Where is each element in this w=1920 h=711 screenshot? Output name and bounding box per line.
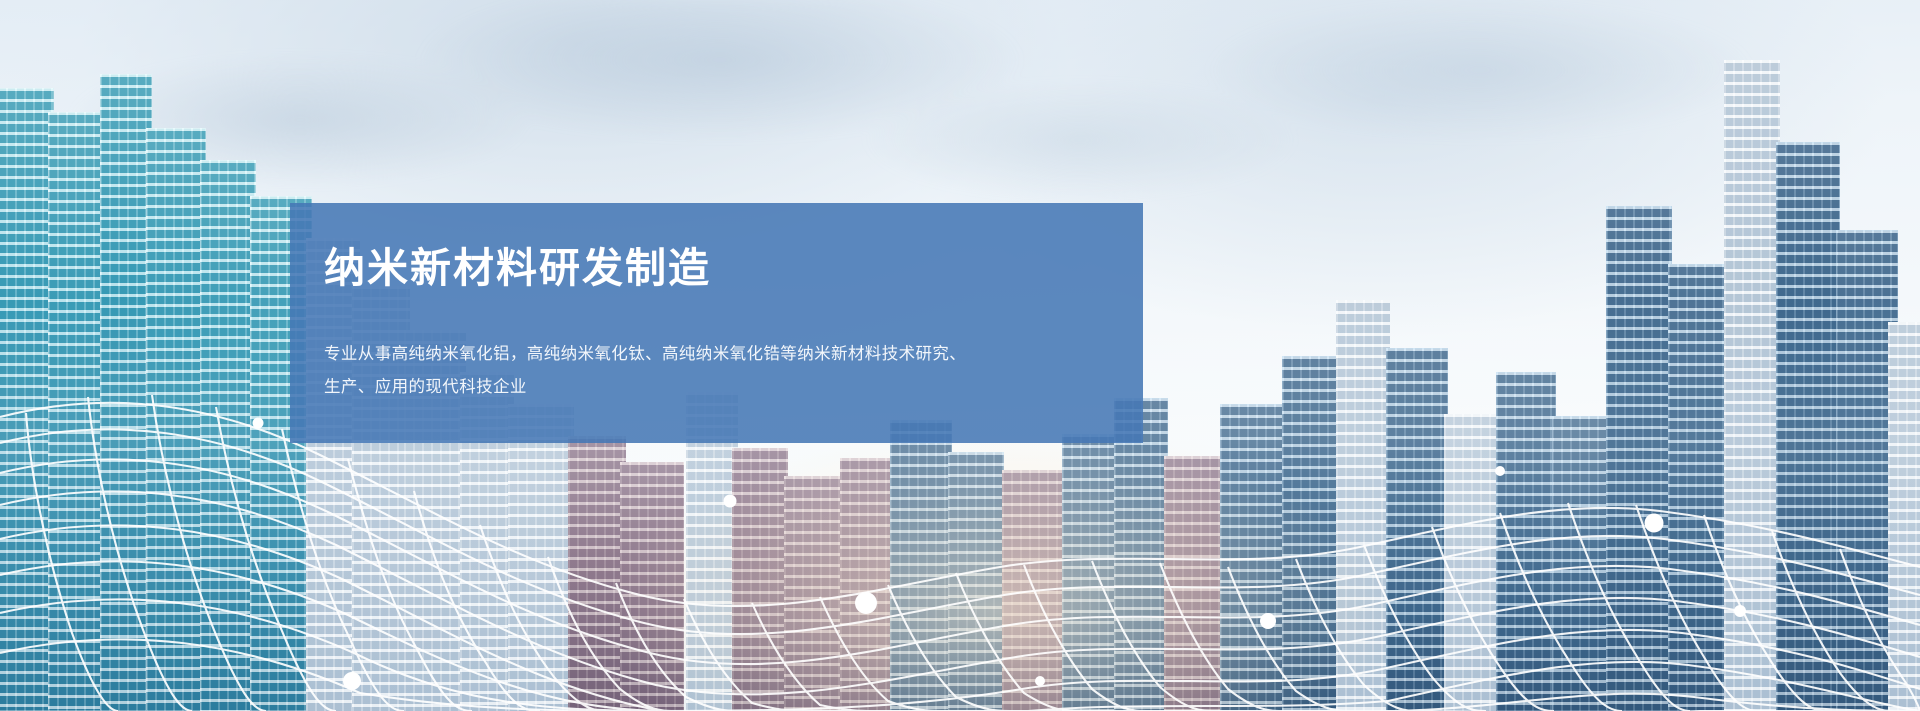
mesh-node-dot bbox=[253, 418, 264, 429]
mesh-node-dot bbox=[1495, 466, 1505, 476]
mesh-node-dot bbox=[343, 672, 361, 690]
hero-subtitle-line-2: 生产、应用的现代科技企业 bbox=[324, 371, 1097, 404]
mesh-node-dot bbox=[1260, 613, 1276, 629]
page-title: 纳米新材料研发制造 bbox=[324, 245, 1097, 292]
mesh-node-dot bbox=[1035, 676, 1045, 686]
hero-subtitle-line-1: 专业从事高纯纳米氧化铝，高纯纳米氧化钛、高纯纳米氧化锆等纳米新材料技术研究、 bbox=[324, 338, 1097, 371]
hero-subtitle: 专业从事高纯纳米氧化铝，高纯纳米氧化钛、高纯纳米氧化锆等纳米新材料技术研究、 生… bbox=[324, 338, 1097, 404]
mesh-node-dot bbox=[855, 592, 877, 614]
mesh-node-dot bbox=[1645, 514, 1664, 533]
mesh-node-dot bbox=[1734, 605, 1746, 617]
hero-text-panel: 纳米新材料研发制造 专业从事高纯纳米氧化铝，高纯纳米氧化钛、高纯纳米氧化锆等纳米… bbox=[290, 203, 1143, 443]
mesh-node-dot bbox=[724, 495, 737, 508]
hero-banner: 纳米新材料研发制造 专业从事高纯纳米氧化铝，高纯纳米氧化钛、高纯纳米氧化锆等纳米… bbox=[0, 0, 1920, 711]
